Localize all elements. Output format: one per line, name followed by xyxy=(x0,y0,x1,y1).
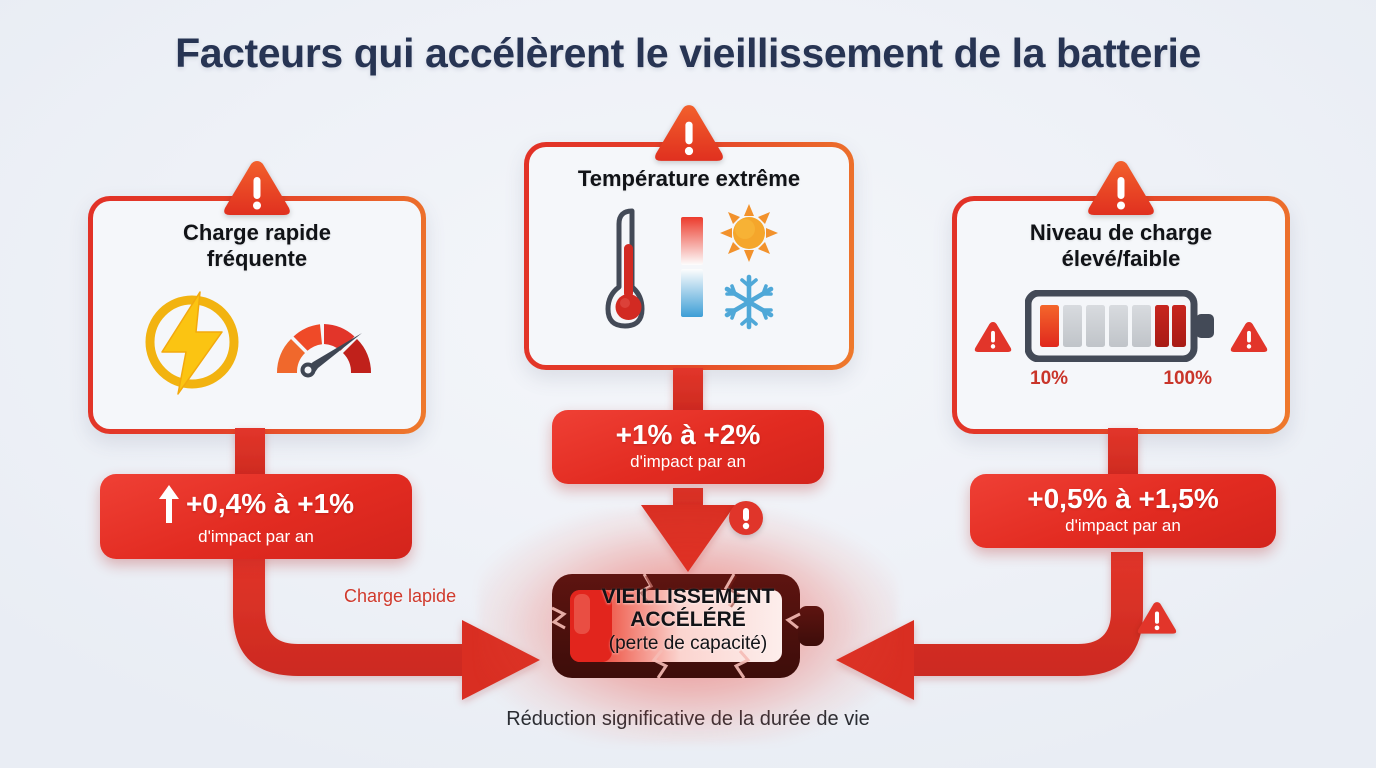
impact-value: +0,4% à +1% xyxy=(158,484,354,524)
flow-label-charge-rapide: Charge lapide xyxy=(344,586,456,607)
warning-triangle-icon xyxy=(221,158,293,220)
outcome-line-2: ACCÉLÉRÉ xyxy=(548,609,828,632)
impact-unit: d'impact par an xyxy=(630,452,746,472)
outcome-cracked-battery: VIEILLISSEMENT ACCÉLÉRÉ (perte de capaci… xyxy=(548,568,828,684)
warning-triangle-icon xyxy=(651,102,727,166)
outcome-label: VIEILLISSEMENT ACCÉLÉRÉ (perte de capaci… xyxy=(548,586,828,655)
impact-unit: d'impact par an xyxy=(198,527,314,547)
impact-unit: d'impact par an xyxy=(1065,516,1181,536)
impact-badge-charge-rapide: +0,4% à +1% d'impact par an xyxy=(100,474,412,559)
exclamation-circle-icon xyxy=(728,500,764,536)
up-arrow-icon xyxy=(158,484,180,524)
impact-value: +0,5% à +1,5% xyxy=(1027,484,1218,513)
outcome-line-3: (perte de capacité) xyxy=(548,633,828,655)
impact-badge-temperature: +1% à +2% d'impact par an xyxy=(552,410,824,484)
outcome-line-1: VIEILLISSEMENT xyxy=(548,586,828,609)
warning-triangle-icon xyxy=(1085,158,1157,220)
warning-triangle-icon xyxy=(1136,600,1178,637)
impact-badge-niveau-charge: +0,5% à +1,5% d'impact par an xyxy=(970,474,1276,548)
impact-value: +1% à +2% xyxy=(616,420,761,449)
infographic-canvas: Facteurs qui accélèrent le vieillissemen… xyxy=(0,0,1376,768)
